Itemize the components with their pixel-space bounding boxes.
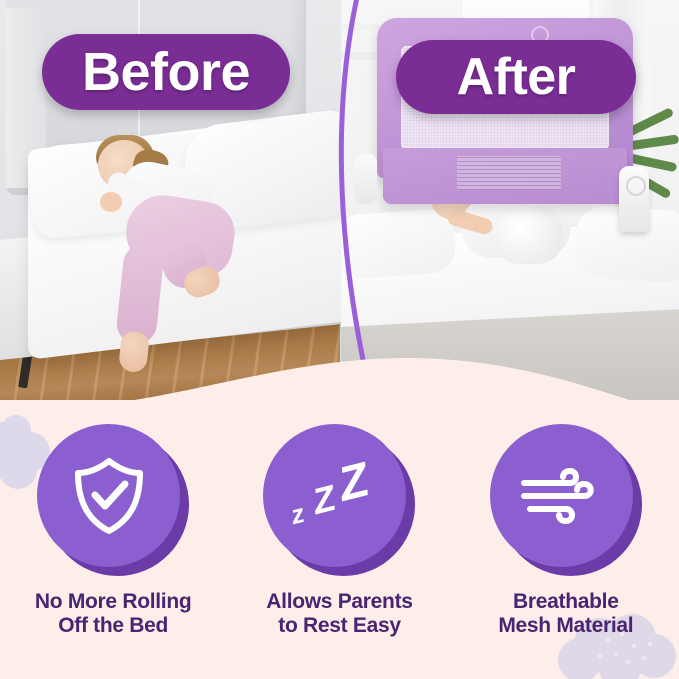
feature-icon-circle <box>490 424 633 567</box>
wind-breathable-icon <box>518 465 604 527</box>
zzz-letter-small: z <box>287 497 307 530</box>
bed-rail-clamp <box>355 154 377 204</box>
feature-rest-easy[interactable]: z Z Z Allows Parents to Rest Easy <box>237 424 442 639</box>
bed-rail-clamp <box>619 166 649 232</box>
child-hand <box>100 192 122 212</box>
feature-label-line2: Off the Bed <box>35 614 192 638</box>
after-badge-label: After <box>457 47 576 107</box>
feature-icon-circle: z Z Z <box>263 424 406 567</box>
feature-label-line1: Allows Parents <box>266 590 412 614</box>
before-badge: Before <box>42 34 290 110</box>
feature-label-line1: Breathable <box>498 590 633 614</box>
feature-icon-circle <box>37 424 180 567</box>
infographic-root: comfybumpy Before After <box>0 0 679 679</box>
sleep-zzz-icon: z Z Z <box>287 453 383 539</box>
feature-no-more-rolling[interactable]: No More Rolling Off the Bed <box>11 424 216 639</box>
feature-breathable-mesh[interactable]: Breathable Mesh Material <box>463 424 668 639</box>
after-badge: After <box>396 40 636 114</box>
feature-label: Allows Parents to Rest Easy <box>266 590 412 639</box>
feature-label-line2: Mesh Material <box>498 614 633 638</box>
features-row: No More Rolling Off the Bed z Z Z Allows… <box>0 424 679 664</box>
shield-check-icon <box>70 455 148 537</box>
feature-label: Breathable Mesh Material <box>498 590 633 639</box>
feature-icon-circle-wrap: z Z Z <box>263 424 415 576</box>
product-care-label <box>457 156 561 190</box>
bed-rail-lower-panel <box>383 148 627 204</box>
feature-icon-circle-wrap <box>490 424 642 576</box>
pillow <box>341 208 457 280</box>
feature-icon-circle-wrap <box>37 424 189 576</box>
feature-label-line2: to Rest Easy <box>266 614 412 638</box>
feature-label: No More Rolling Off the Bed <box>35 590 192 639</box>
before-badge-label: Before <box>82 41 250 103</box>
feature-label-line1: No More Rolling <box>35 590 192 614</box>
zzz-letter-large: Z <box>333 452 375 512</box>
zzz-letter-medium: Z <box>308 476 340 522</box>
